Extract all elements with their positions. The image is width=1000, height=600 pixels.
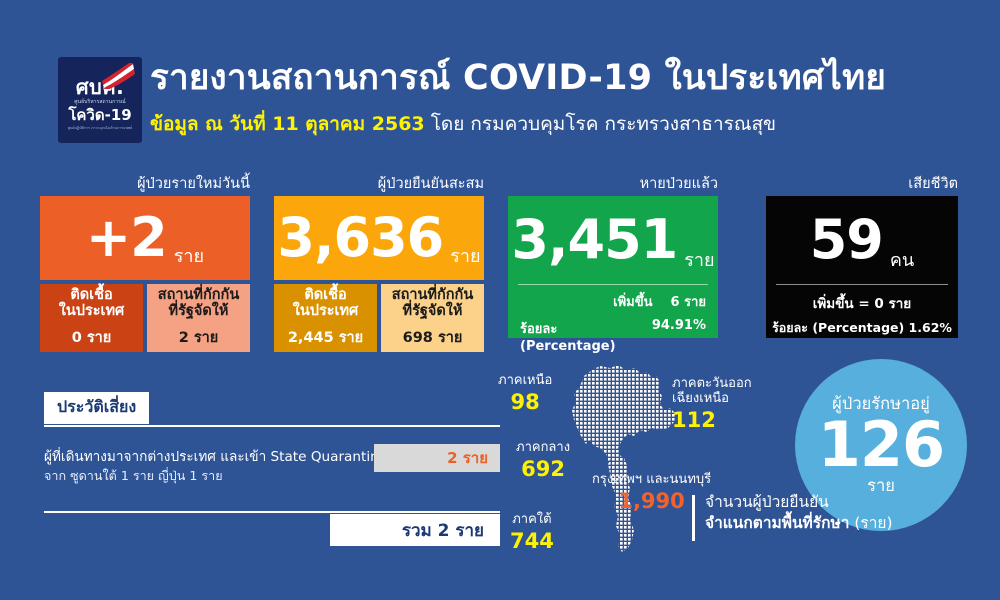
cum-local-label-1: ติดเชื้อ <box>304 287 346 303</box>
risk-total-bar: รวม 2 ราย <box>330 514 500 546</box>
cum-local-value: 2,445 ราย <box>288 326 363 349</box>
map-label-central-name: ภาคกลาง <box>516 441 570 456</box>
map-label-south: ภาคใต้ 744 <box>510 513 554 553</box>
new-quarantine-value: 2 ราย <box>179 326 219 349</box>
card-new-cases[interactable]: +2 ราย ติดเชื้อ ในประเทศ 0 ราย สถานที่กั… <box>40 196 250 352</box>
logo-subtitle-3: ศูนย์ปฏิบัติการ ภาวะฉุกเฉินด้านการแพทย์ <box>68 126 133 130</box>
map-label-central: ภาคกลาง 692 <box>516 441 570 481</box>
deaths-increase-text: เพิ่มขึ้น = 0 ราย <box>766 292 958 314</box>
map-label-northeast-name: ภาคตะวันออก <box>672 377 752 392</box>
map-caption: จำนวนผู้ป่วยยืนยัน จำแนกตามพื้นที่รักษา … <box>692 492 893 534</box>
new-cases-value-block: +2 ราย <box>40 196 250 280</box>
cumulative-quarantine-cell: สถานที่กักกัน ที่รัฐจัดให้ 698 ราย <box>381 284 484 352</box>
cum-quarantine-label-2: ที่รัฐจัดให้ <box>403 303 463 319</box>
subtitle-source: โดย กรมควบคุมโรค กระทรวงสาธารณสุข <box>431 113 776 135</box>
recovered-increase-value: 6 ราย <box>671 291 706 312</box>
map-label-bangkok-name: กรุงเทพฯ และนนทบุรี <box>592 473 711 488</box>
map-caption-bar <box>692 495 695 541</box>
caption-deaths: เสียชีวิต <box>766 172 958 195</box>
caption-recovered: หายป่วยแล้ว <box>508 172 718 195</box>
new-local-label-1: ติดเชื้อ <box>70 287 112 303</box>
map-label-north-name: ภาคเหนือ <box>498 374 552 389</box>
deaths-percentage-text: ร้อยละ (Percentage) 1.62% <box>766 318 958 338</box>
recovered-value: 3,451 <box>511 214 677 265</box>
cumulative-value: 3,636 <box>277 212 443 263</box>
deaths-divider <box>776 284 948 285</box>
recovered-divider <box>518 284 708 285</box>
risk-line-2: จาก ซูดานใต้ 1 ราย ญี่ปุ่น 1 ราย <box>44 466 223 486</box>
map-label-northeast-name2: เฉียงเหนือ <box>672 392 752 407</box>
new-cases-value: +2 <box>86 212 167 263</box>
recovered-percentage-value: 94.91% <box>652 318 706 354</box>
risk-line-1: ผู้ที่เดินทางมาจากต่างประเทศ และเข้า Sta… <box>44 445 387 467</box>
subtitle-date: ข้อมูล ณ วันที่ 11 ตุลาคม 2563 <box>150 113 425 135</box>
map-label-northeast-value: 112 <box>672 408 752 432</box>
caption-new-cases: ผู้ป่วยรายใหม่วันนี้ <box>40 172 250 195</box>
new-cases-local-cell: ติดเชื้อ ในประเทศ 0 ราย <box>40 284 143 352</box>
thai-flag-ribbon-icon <box>101 63 135 89</box>
risk-divider-top <box>44 425 500 427</box>
new-local-value: 0 ราย <box>72 326 112 349</box>
page-title: รายงานสถานการณ์ COVID-19 ในประเทศไทย <box>150 60 990 98</box>
cssa-logo: ศบค. ศูนย์บริหารสถานการณ์ โควิด-19 ศูนย์… <box>58 57 142 143</box>
map-caption-unit: (ราย) <box>849 514 892 532</box>
card-deaths[interactable]: 59 คน เพิ่มขึ้น = 0 ราย ร้อยละ (Percenta… <box>766 196 958 338</box>
cum-local-label-2: ในประเทศ <box>293 303 359 319</box>
risk-count-badge: 2 ราย <box>374 444 500 472</box>
page-subtitle: ข้อมูล ณ วันที่ 11 ตุลาคม 2563 โดย กรมคว… <box>150 113 990 136</box>
map-caption-line-2: จำแนกตามพื้นที่รักษา <box>705 514 849 532</box>
new-quarantine-label-1: สถานที่กักกัน <box>158 287 240 303</box>
map-label-central-value: 692 <box>516 457 570 481</box>
new-cases-quarantine-cell: สถานที่กักกัน ที่รัฐจัดให้ 2 ราย <box>147 284 250 352</box>
cumulative-local-cell: ติดเชื้อ ในประเทศ 2,445 ราย <box>274 284 377 352</box>
new-cases-unit: ราย <box>174 241 204 280</box>
recovered-percentage-label: ร้อยละ (Percentage) <box>520 318 652 354</box>
card-recovered[interactable]: 3,451 ราย เพิ่มขึ้น 6 ราย ร้อยละ (Percen… <box>508 196 718 338</box>
cum-quarantine-value: 698 ราย <box>403 326 463 349</box>
new-local-label-2: ในประเทศ <box>59 303 125 319</box>
map-label-north: ภาคเหนือ 98 <box>498 374 552 414</box>
recovered-increase-row: เพิ่มขึ้น 6 ราย <box>508 291 718 312</box>
map-label-south-name: ภาคใต้ <box>510 513 554 528</box>
recovered-value-block: 3,451 ราย <box>508 196 718 284</box>
logo-subtitle-1: ศูนย์บริหารสถานการณ์ <box>74 99 126 106</box>
cumulative-value-block: 3,636 ราย <box>274 196 484 280</box>
logo-subtitle-2: โควิด-19 <box>68 107 131 124</box>
new-quarantine-label-2: ที่รัฐจัดให้ <box>169 303 229 319</box>
active-cases-value: 126 <box>818 414 944 476</box>
deaths-value-block: 59 คน <box>766 196 958 284</box>
risk-history-tag: ประวัติเสี่ยง <box>44 392 149 424</box>
recovered-percentage-row: ร้อยละ (Percentage) 94.91% <box>508 318 718 354</box>
caption-cumulative: ผู้ป่วยยืนยันสะสม <box>274 172 484 195</box>
infographic-root: ศบค. ศูนย์บริหารสถานการณ์ โควิด-19 ศูนย์… <box>0 0 1000 600</box>
card-cumulative[interactable]: 3,636 ราย ติดเชื้อ ในประเทศ 2,445 ราย สถ… <box>274 196 484 352</box>
map-label-south-value: 744 <box>510 529 554 553</box>
deaths-unit: คน <box>890 245 914 284</box>
map-caption-line-1: จำนวนผู้ป่วยยืนยัน <box>705 492 893 513</box>
risk-divider-bottom <box>44 511 500 513</box>
deaths-value: 59 <box>810 214 883 265</box>
cum-quarantine-label-1: สถานที่กักกัน <box>392 287 474 303</box>
map-label-north-value: 98 <box>498 390 552 414</box>
recovered-increase-label: เพิ่มขึ้น <box>613 291 652 312</box>
recovered-unit: ราย <box>684 245 714 284</box>
cumulative-unit: ราย <box>450 241 480 280</box>
map-label-northeast: ภาคตะวันออก เฉียงเหนือ 112 <box>672 377 752 432</box>
